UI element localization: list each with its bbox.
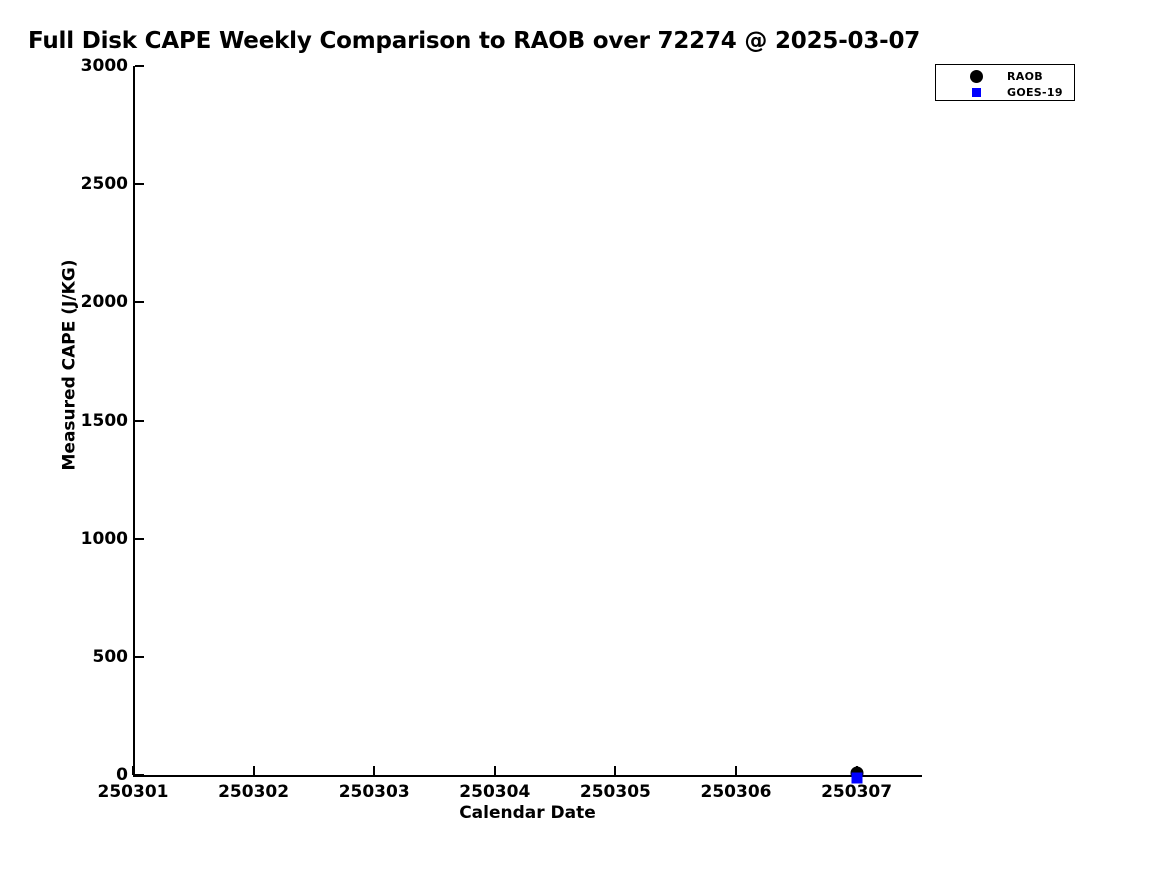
y-axis-tick — [135, 538, 144, 540]
x-axis-spine — [133, 775, 922, 777]
x-axis-tick-label: 250305 — [580, 782, 651, 802]
chart-legend: RAOBGOES-19 — [935, 64, 1075, 101]
x-axis-tick-label: 250301 — [98, 782, 169, 802]
legend-circle-icon — [967, 68, 985, 85]
y-axis-tick-label: 1000 — [81, 529, 128, 549]
y-axis-tick-label: 2000 — [81, 292, 128, 312]
plot-area: 2503012503022503032503042503052503062503… — [133, 66, 922, 777]
x-axis-tick-label: 250302 — [218, 782, 289, 802]
x-axis-tick — [614, 766, 616, 775]
y-axis-tick — [135, 774, 144, 776]
x-axis-label: Calendar Date — [133, 803, 922, 823]
legend-item-label: RAOB — [1007, 70, 1043, 83]
x-axis-tick — [373, 766, 375, 775]
y-axis-tick — [135, 420, 144, 422]
y-axis-tick — [135, 183, 144, 185]
y-axis-tick — [135, 656, 144, 658]
y-axis-tick — [135, 301, 144, 303]
legend-square-icon — [967, 84, 985, 101]
page-title: Full Disk CAPE Weekly Comparison to RAOB… — [28, 28, 920, 54]
x-axis-tick-label: 250304 — [459, 782, 530, 802]
y-axis-tick-label: 2500 — [81, 174, 128, 194]
y-axis-tick — [135, 65, 144, 67]
chart-figure: Full Disk CAPE Weekly Comparison to RAOB… — [0, 0, 1167, 875]
y-axis-label: Measured CAPE (J/KG) — [60, 10, 80, 721]
y-axis-tick-label: 3000 — [81, 56, 128, 76]
x-axis-tick-label: 250303 — [339, 782, 410, 802]
data-point-goes-19 — [851, 773, 862, 784]
legend-item[interactable]: GOES-19 — [936, 84, 1076, 101]
x-axis-tick — [735, 766, 737, 775]
x-axis-tick — [253, 766, 255, 775]
x-axis-tick — [132, 766, 134, 775]
y-axis-tick-label: 1500 — [81, 411, 128, 431]
y-axis-spine — [133, 66, 135, 777]
x-axis-tick-label: 250307 — [821, 782, 892, 802]
y-axis-tick-label: 0 — [116, 765, 128, 785]
x-axis-tick-label: 250306 — [701, 782, 772, 802]
legend-item-label: GOES-19 — [1007, 86, 1063, 99]
legend-item[interactable]: RAOB — [936, 68, 1076, 85]
y-axis-tick-label: 500 — [93, 647, 129, 667]
x-axis-tick — [494, 766, 496, 775]
